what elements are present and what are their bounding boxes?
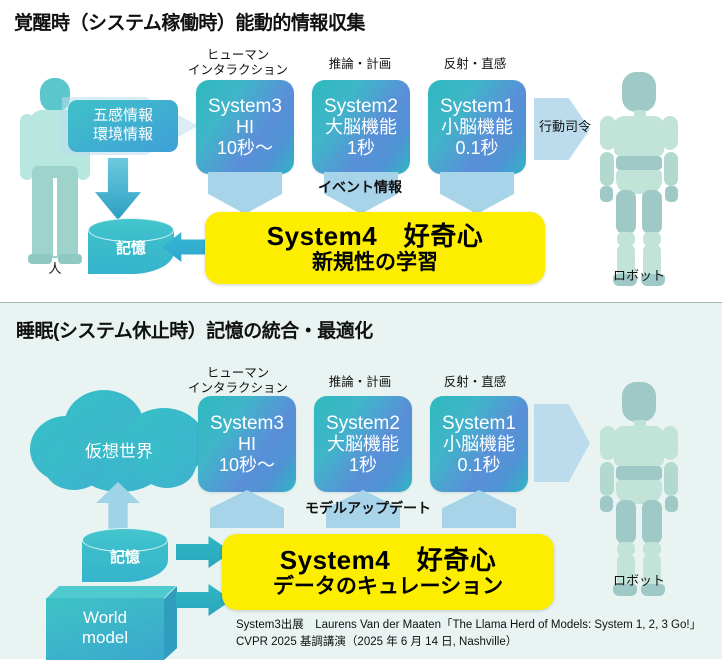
system4-subtitle-awake: 新規性の学習 — [312, 251, 438, 274]
system1-box-sleep[interactable]: System1 小脳機能 0.1秒 — [430, 396, 528, 492]
footnote-line-2: CVPR 2025 基調講演（2025 年 6 月 14 日, Nashvill… — [236, 634, 517, 651]
system3-name-sleep: System3 — [210, 413, 284, 434]
system2-func-awake: 大脳機能 — [325, 117, 397, 137]
system2-name-sleep: System2 — [326, 413, 400, 434]
system1-caption-awake: 反射・直感 — [420, 57, 530, 71]
system4-box-sleep[interactable]: System4 好奇心 データのキュレーション — [222, 534, 554, 610]
robot-head — [622, 72, 656, 112]
system3-box-awake[interactable]: System3 HI 10秒～ — [196, 80, 294, 174]
system1-func-sleep: 小脳機能 — [443, 434, 515, 454]
system1-time-sleep: 0.1秒 — [457, 455, 500, 475]
memory-label-awake: 記憶 — [88, 237, 174, 258]
robot-thigh-left — [616, 190, 636, 234]
robot-hand-right — [665, 186, 678, 202]
robot-shoulder-right-sleep — [662, 426, 678, 460]
robot-hand-left — [600, 186, 613, 202]
system3-caption-sleep-line2: インタラクション — [178, 381, 298, 396]
system3-caption-awake: ヒューマン インタラクション — [178, 48, 298, 78]
robot-belt — [616, 156, 662, 170]
system2-caption-sleep: 推論・計画 — [305, 375, 415, 389]
action-command-label: 行動司令 — [532, 120, 598, 135]
sensory-info-line1: 五感情報 — [93, 107, 153, 126]
memory-cylinder-awake: 記憶 — [88, 218, 174, 274]
system4-box-awake[interactable]: System4 好奇心 新規性の学習 — [205, 212, 545, 284]
system3-func-sleep: HI — [238, 434, 256, 454]
virtual-world-cloud: 仮想世界 — [30, 390, 208, 498]
human-label: 人 — [32, 258, 78, 277]
memory-label-sleep: 記憶 — [82, 546, 168, 567]
system1-name-sleep: System1 — [442, 413, 516, 434]
system1-box-awake[interactable]: System1 小脳機能 0.1秒 — [428, 80, 526, 174]
system1-down-arrow-icon — [440, 172, 514, 214]
robot-belt-sleep — [616, 466, 662, 480]
robot-thigh-right-sleep — [642, 500, 662, 544]
human-leg-gap — [53, 178, 57, 256]
robot-head-sleep — [622, 382, 656, 422]
system2-box-awake[interactable]: System2 大脳機能 1秒 — [312, 80, 410, 174]
awake-panel: 覚醒時（システム稼働時）能動的情報収集 人 五感情報 環境情報 記憶 ヒューマン… — [0, 0, 722, 300]
system3-time-awake: 10秒～ — [217, 138, 273, 158]
world-model-line2: model — [46, 628, 164, 648]
world-model-line1: World — [46, 608, 164, 628]
robot-forearm-left — [600, 152, 614, 186]
system2-caption-awake: 推論・計画 — [305, 57, 415, 71]
system2-box-sleep[interactable]: System2 大脳機能 1秒 — [314, 396, 412, 492]
system3-box-sleep[interactable]: System3 HI 10秒～ — [198, 396, 296, 492]
awake-section-title: 覚醒時（システム稼働時）能動的情報収集 — [14, 8, 365, 35]
sensory-info-line2: 環境情報 — [93, 126, 153, 145]
robot-thigh-right — [642, 190, 662, 234]
system4-subtitle-sleep: データのキュレーション — [273, 575, 503, 598]
system1-caption-sleep: 反射・直感 — [420, 375, 530, 389]
robot-label-sleep: ロボット — [602, 570, 676, 589]
robot-shoulder-right — [662, 116, 678, 150]
footnote-line-1: System3出展 Laurens Van der Maaten「The Lla… — [236, 617, 701, 634]
robot-thigh-left-sleep — [616, 500, 636, 544]
robot-chest — [614, 116, 664, 156]
system3-caption-line1: ヒューマン — [178, 48, 298, 63]
system1-time-awake: 0.1秒 — [455, 138, 498, 158]
system1-name-awake: System1 — [440, 96, 514, 117]
system4-title-awake: System4 好奇心 — [267, 222, 483, 251]
robot-forearm-right — [664, 152, 678, 186]
system3-caption-line2: インタラクション — [178, 63, 298, 78]
robot-hand-right-sleep — [665, 496, 678, 512]
robot-hand-left-sleep — [600, 496, 613, 512]
system2-time-awake: 1秒 — [347, 138, 375, 158]
sensory-info-pill: 五感情報 環境情報 — [68, 100, 178, 152]
system3-down-arrow-icon — [208, 172, 282, 214]
model-update-label: モデルアップデート — [288, 500, 448, 516]
system3-name-awake: System3 — [208, 96, 282, 117]
sleep-section-title: 睡眠(システム休止時）記憶の統合・最適化 — [16, 316, 373, 343]
robot-label-awake: ロボット — [602, 265, 676, 284]
system3-caption-sleep-line1: ヒューマン — [178, 366, 298, 381]
memory-cylinder-sleep: 記憶 — [82, 528, 168, 582]
system3-func-awake: HI — [236, 117, 254, 137]
human-to-memory-arrow-icon — [95, 158, 141, 220]
world-model-label: World model — [46, 608, 164, 649]
system2-name-awake: System2 — [324, 96, 398, 117]
system1-func-awake: 小脳機能 — [441, 117, 513, 137]
robot-forearm-left-sleep — [600, 462, 614, 496]
robot-chest-sleep — [614, 426, 664, 466]
system3-caption-sleep: ヒューマン インタラクション — [178, 366, 298, 396]
system4-title-sleep: System4 好奇心 — [280, 546, 496, 575]
robot-figure-sleep — [594, 382, 684, 598]
virtual-world-label: 仮想世界 — [30, 437, 208, 462]
world-model-side-face — [164, 586, 177, 660]
robot-forearm-right-sleep — [664, 462, 678, 496]
system2-func-sleep: 大脳機能 — [327, 434, 399, 454]
robot-figure-awake — [594, 72, 684, 288]
system2-time-sleep: 1秒 — [349, 455, 377, 475]
event-info-label: イベント情報 — [300, 179, 420, 195]
world-model-box[interactable]: World model — [46, 586, 178, 662]
system3-time-sleep: 10秒～ — [219, 455, 275, 475]
